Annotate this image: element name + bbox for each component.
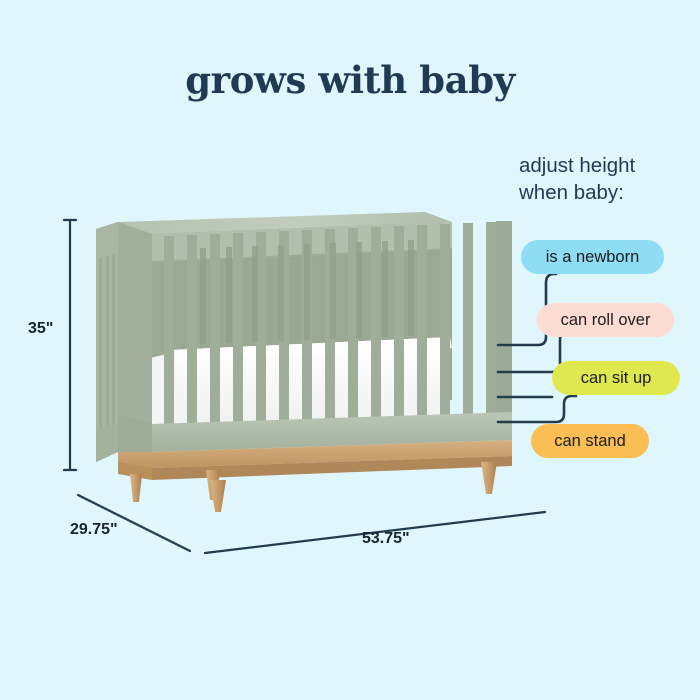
caption-line-2: when baby: bbox=[519, 179, 699, 206]
crib-back-panel bbox=[96, 212, 425, 266]
dimension-lines bbox=[0, 0, 700, 700]
connector-lines-detail bbox=[0, 0, 700, 700]
caption-line-1: adjust height bbox=[519, 152, 699, 179]
milestone-pill-newborn[interactable]: is a newborn bbox=[521, 240, 664, 274]
crib-right-end-panel bbox=[496, 221, 512, 434]
dimension-label-height: 35" bbox=[28, 320, 53, 338]
crib-legs bbox=[130, 462, 497, 512]
milestone-pill-roll-over[interactable]: can roll over bbox=[537, 303, 674, 337]
milestone-pill-stand[interactable]: can stand bbox=[531, 424, 649, 458]
milestone-pill-sit-up[interactable]: can sit up bbox=[552, 361, 680, 395]
adjust-height-caption: adjust height when baby: bbox=[519, 152, 699, 206]
crib-interior bbox=[104, 236, 452, 420]
crib-wood-base bbox=[118, 440, 512, 480]
crib-bottom-rail bbox=[118, 412, 512, 462]
connector-path-4 bbox=[498, 396, 576, 422]
crib-mattress bbox=[150, 337, 452, 436]
crib-back-slats bbox=[200, 240, 414, 344]
dimension-label-depth: 29.75" bbox=[70, 521, 118, 539]
crib-corner-post-left bbox=[118, 222, 152, 462]
infographic-canvas: grows with baby bbox=[0, 0, 700, 700]
crib-illustration bbox=[0, 0, 700, 700]
crib-left-end-panel bbox=[96, 222, 118, 462]
page-title: grows with baby bbox=[0, 58, 700, 102]
crib-corner-post-right bbox=[496, 221, 512, 434]
dimension-label-width: 53.75" bbox=[362, 530, 410, 548]
crib-top-rail bbox=[118, 212, 452, 265]
crib-front-slats bbox=[164, 222, 496, 449]
